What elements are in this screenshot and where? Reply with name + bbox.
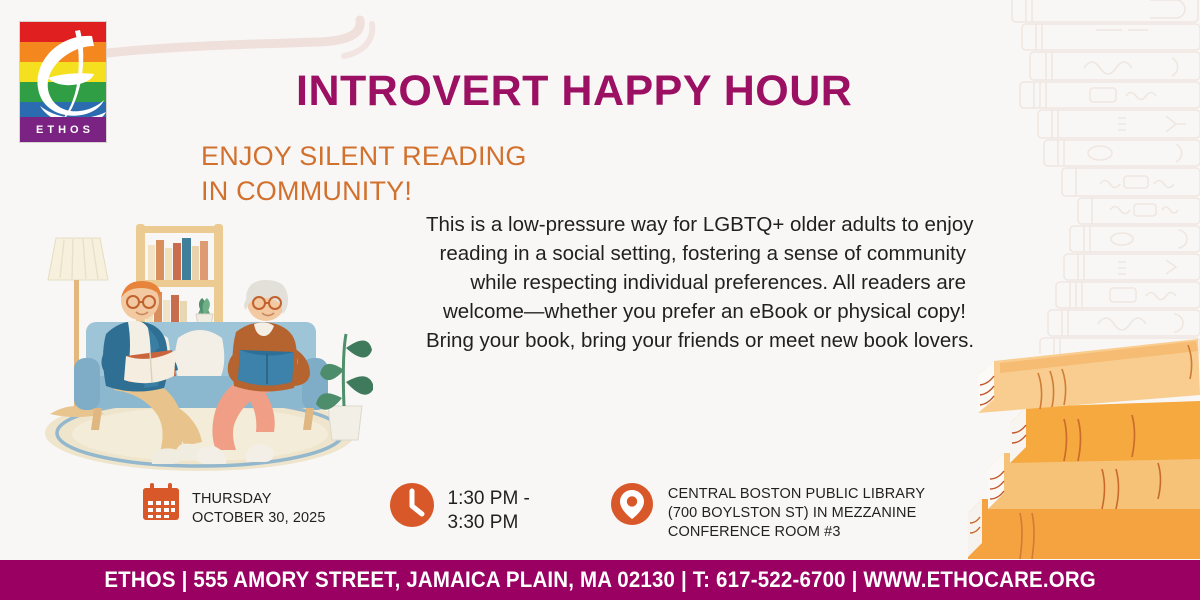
logo-wordmark: ETHOS (32, 124, 94, 136)
event-time-line-1: 1:30 PM - (448, 487, 530, 511)
event-date-line-1: THURSDAY (192, 490, 326, 509)
page-title: INTROVERT HAPPY HOUR (296, 70, 916, 113)
event-location-text: CENTRAL BOSTON PUBLIC LIBRARY (700 BOYLS… (668, 485, 925, 542)
subtitle: ENJOY SILENT READING IN COMMUNITY! (201, 139, 527, 208)
book-stack-illustration (960, 317, 1200, 562)
event-location-line-2: (700 BOYLSTON ST) IN MEZZANINE (668, 504, 925, 523)
event-date-line-2: OCTOBER 30, 2025 (192, 509, 326, 528)
location-pin-icon (609, 481, 655, 527)
event-details-row: THURSDAY OCTOBER 30, 2025 1:30 PM - 3:30… (140, 481, 925, 551)
description-paragraph: This is a low-pressure way for LGBTQ+ ol… (426, 210, 966, 356)
logo-wordmark-band: ETHOS (20, 117, 106, 142)
reading-illustration (28, 218, 373, 473)
subtitle-line-2: IN COMMUNITY! (201, 174, 527, 209)
description-line-4: welcome—whether you prefer an eBook or p… (426, 297, 966, 326)
event-location: CENTRAL BOSTON PUBLIC LIBRARY (700 BOYLS… (609, 481, 925, 542)
event-time-text: 1:30 PM - 3:30 PM (448, 487, 530, 536)
event-location-line-1: CENTRAL BOSTON PUBLIC LIBRARY (668, 485, 925, 504)
event-location-line-3: CONFERENCE ROOM #3 (668, 523, 925, 542)
event-date: THURSDAY OCTOBER 30, 2025 (140, 481, 326, 528)
ethos-logo: ETHOS (19, 21, 107, 143)
footer-contact-text: ETHOS | 555 AMORY STREET, JAMAICA PLAIN,… (104, 567, 1096, 593)
event-flyer: ETHOS INTROVERT HAPPY HOUR ENJOY SILENT … (0, 0, 1200, 600)
event-time-line-2: 3:30 PM (448, 511, 530, 535)
event-time: 1:30 PM - 3:30 PM (388, 481, 530, 536)
description-line-2: reading in a social setting, fostering a… (426, 239, 966, 268)
event-date-text: THURSDAY OCTOBER 30, 2025 (192, 490, 326, 528)
description-line-3: while respecting individual preferences.… (426, 268, 966, 297)
description-line-1: This is a low-pressure way for LGBTQ+ ol… (426, 210, 966, 239)
subtitle-line-1: ENJOY SILENT READING (201, 139, 527, 174)
footer-bar: ETHOS | 555 AMORY STREET, JAMAICA PLAIN,… (0, 560, 1200, 600)
description-line-5: Bring your book, bring your friends or m… (426, 326, 966, 355)
calendar-icon (140, 481, 182, 523)
watermark-book-stack-decoration (1000, 0, 1200, 354)
clock-icon (388, 481, 436, 529)
